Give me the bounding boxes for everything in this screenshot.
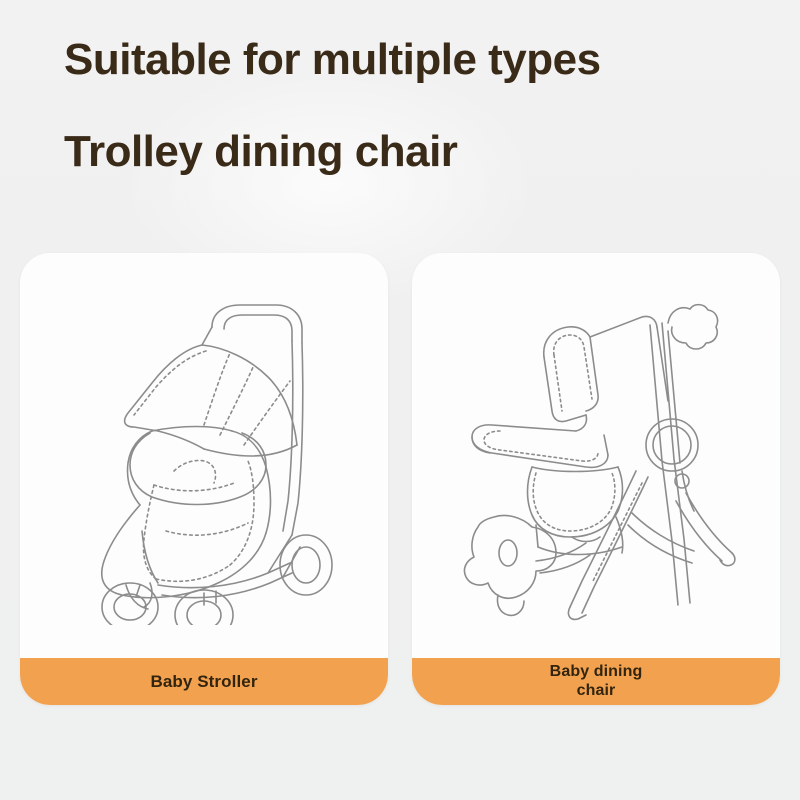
heading-line-2: Trolley dining chair <box>64 128 764 176</box>
baby-dining-chair-illustration <box>412 253 780 657</box>
label-line-1: Baby dining <box>550 663 643 681</box>
baby-dining-chair-label-band: Baby dining chair <box>412 658 780 705</box>
headings-block: Suitable for multiple types Trolley dini… <box>64 36 764 175</box>
chair-footrest-hole <box>499 540 517 566</box>
promo-page: Suitable for multiple types Trolley dini… <box>0 0 800 800</box>
stroller-wheel-front-left <box>102 583 158 625</box>
product-card-baby-stroller[interactable]: Baby Stroller <box>20 253 388 705</box>
stroller-wheel-rear <box>280 535 332 595</box>
heading-line-1: Suitable for multiple types <box>64 36 764 84</box>
baby-stroller-label-band: Baby Stroller <box>20 658 388 705</box>
product-card-grid: Baby Stroller <box>20 253 780 705</box>
stroller-line-art-svg <box>54 285 354 625</box>
baby-dining-chair-label: Baby dining chair <box>550 663 643 700</box>
baby-stroller-label: Baby Stroller <box>150 672 257 691</box>
baby-stroller-illustration <box>20 253 388 657</box>
dining-chair-line-art-svg <box>436 285 756 625</box>
product-card-baby-dining-chair[interactable]: Baby dining chair <box>412 253 780 705</box>
label-line-2: chair <box>550 682 643 700</box>
